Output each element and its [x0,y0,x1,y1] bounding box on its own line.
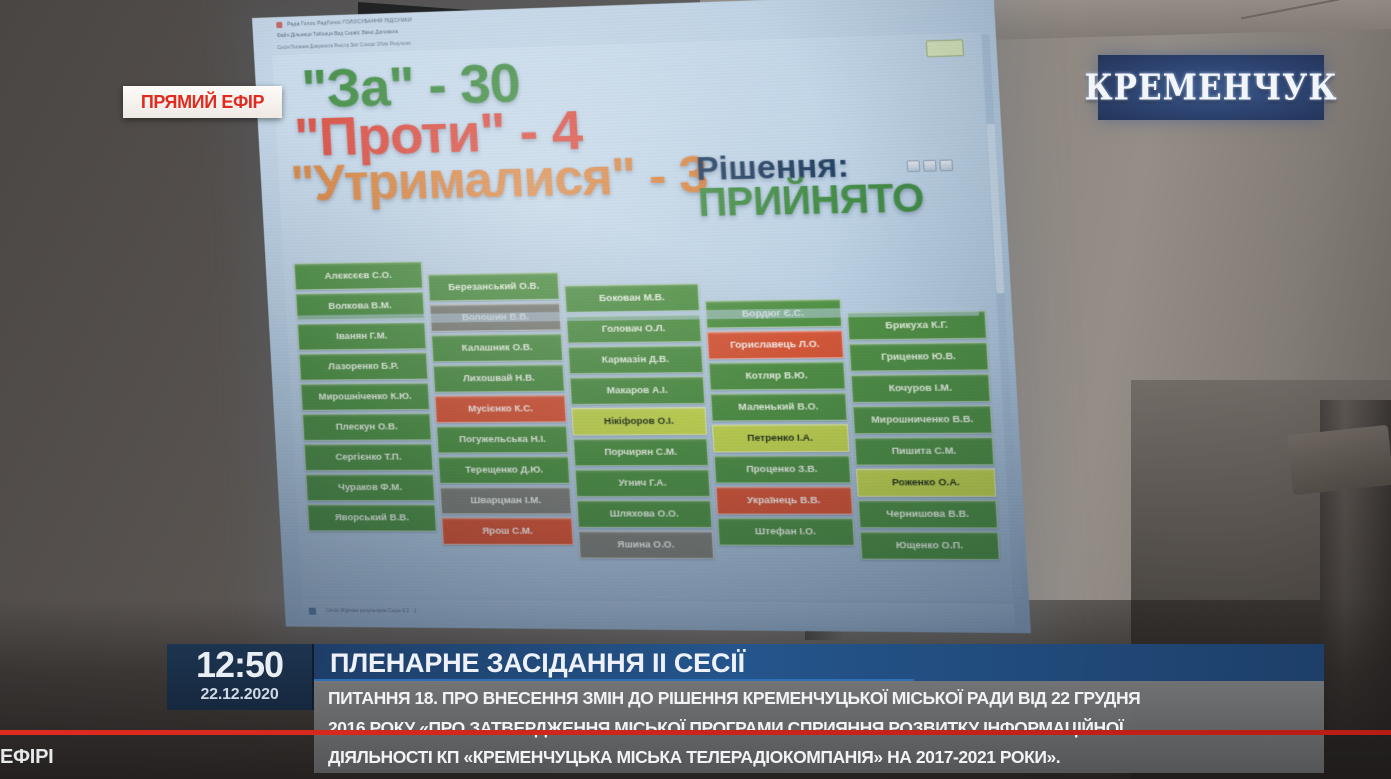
clock-time: 12:50 [196,647,283,683]
vote-cell: Мирошніченко К.Ю. [300,383,430,411]
vote-cell: Проценко З.В. [713,455,851,483]
vote-cell: Штефан І.О. [717,518,855,546]
vote-cell: Угнич Г.А. [575,469,710,497]
vote-column-3: Бокован М.В.Головач О.Л.Кармазін Д.В.Мак… [565,283,714,559]
subtitle-box: ПИТАННЯ 18. ПРО ВНЕСЕННЯ ЗМІН ДО РІШЕННЯ… [314,681,1324,773]
vote-cell: Бокован М.В. [565,283,700,313]
vote-cell: Шварцман І.М. [440,487,573,515]
clock-box: 12:50 22.12.2020 [167,644,314,710]
vote-cell: Лихошвай Н.В. [433,364,566,393]
vote-cell: Гриценко Ю.В. [848,342,989,372]
headline-bar: ПЛЕНАРНЕ ЗАСІДАННЯ II СЕСІЇ [314,644,1324,682]
vote-cell: Українець В.В. [715,486,853,514]
channel-logo-label: КРЕМЕНЧУК [1084,67,1337,108]
vote-cell: Сергієнко Т.П. [304,443,434,471]
vote-cell: Лазоренко Б.Р. [299,352,429,380]
vote-cell: Гориславець Л.О. [706,330,844,360]
vote-column-5: Брикуха К.Г.Гриценко Ю.В.Кочуров І.М.Мир… [847,310,1000,560]
ticker-crawl: ЕФІРІ [0,741,170,773]
decision-block: Рішення: ПРИЙНЯТО [695,147,969,224]
vote-cell: Плескун О.В. [302,413,432,441]
vote-cell: Петренко І.А. [711,424,849,453]
vote-cell: Березанський О.В. [428,272,560,301]
vote-cell: Погужельська Н.І. [436,425,569,453]
vote-cell: Іванян Г.М. [297,322,427,351]
decision-value: ПРИЙНЯТО [697,180,969,224]
ticker-rule [0,730,1391,735]
vote-cell: Яворський В.В. [307,504,437,531]
status-chip-icon [309,607,316,614]
vote-cell: Маленький В.О. [710,393,848,422]
vote-cell: Кочуров І.М. [850,374,991,403]
app-icon [276,21,282,27]
vote-cell: Порчирян С.М. [573,438,708,466]
ticker-crawl-text: ЕФІРІ [0,746,53,769]
vote-tally-block: "За" - 30 "Проти" - 4 "Утрималися" - 3 [284,49,736,209]
vote-cell: Ющенко О.П. [859,531,1000,560]
vote-cell: Роженко О.А. [856,468,997,497]
clock-date: 22.12.2020 [200,683,278,707]
live-badge-label: ПРЯМИЙ ЕФІР [141,92,264,113]
projection-screen-surface: Рада Голос РадГолос ГОЛОСУВАННЯ ПІДСУМКИ… [252,0,1031,633]
headline-text: ПЛЕНАРНЕ ЗАСІДАННЯ II СЕСІЇ [330,648,745,679]
voting-results-grid: Алєксєєв С.О.Волкова В.М.Іванян Г.М.Лазо… [294,251,1002,578]
vote-cell: Чернишова В.В. [858,500,999,528]
app-menu-items[interactable]: Файл Дільниця Таблиця Вид Сервіс Вікно Д… [277,29,398,39]
live-badge: ПРЯМИЙ ЕФІР [123,86,282,118]
vote-cell: Терещенко Д.Ю. [438,456,571,484]
vote-cell: Кармазін Д.В. [568,345,703,374]
app-legend-chip [926,39,964,57]
lower-third-banner: 12:50 22.12.2020 ПЛЕНАРНЕ ЗАСІДАННЯ II С… [0,624,1391,779]
app-toolbar-items[interactable]: Сесія Питання Документи Реєстр Звіт Спис… [277,41,411,50]
vote-cell: Макаров А.І. [570,376,705,405]
vote-cell: Мусієнко К.С. [435,395,568,423]
vote-cell: Мирошниченко В.В. [852,405,993,434]
vote-cell: Ярош С.М. [441,517,574,545]
vote-cell: Шляхова О.О. [577,500,712,528]
vote-column-4: Бордюг Є.С.Гориславець Л.О.Котляр В.Ю.Ма… [704,299,854,546]
vote-cell: Котляр В.Ю. [708,361,846,390]
app-title-text: Рада Голос РадГолос ГОЛОСУВАННЯ ПІДСУМКИ [287,17,412,27]
vote-column-1: Алєксєєв С.О.Волкова В.М.Іванян Г.М.Лазо… [294,261,438,531]
subtitle-line-3: ДІЯЛЬНОСТІ КП «КРЕМЕНЧУЦЬКА МІСЬКА ТЕЛЕР… [328,743,1314,771]
vote-cell: Нікіфоров О.І. [572,407,707,436]
app-status-text: Сесія Журнал результатів Сесія II 2 - 1 [326,608,417,615]
vote-cell: Алєксєєв С.О. [294,261,424,290]
subtitle-line-1: ПИТАННЯ 18. ПРО ВНЕСЕННЯ ЗМІН ДО РІШЕННЯ… [328,684,1314,712]
vote-cell: Пишита С.М. [854,437,995,466]
vote-cell: Чураков Ф.М. [305,474,435,501]
channel-logo: КРЕМЕНЧУК [1098,55,1324,120]
vote-cell: Яшина О.О. [579,531,714,559]
vote-cell: Калашник О.В. [431,333,563,362]
votes-abstain-label: "Утрималися" - 3 [290,148,736,209]
projection-screen: Рада Голос РадГолос ГОЛОСУВАННЯ ПІДСУМКИ… [252,0,1031,633]
subtitle-line-2: 2016 РОКУ «ПРО ЗАТВЕРДЖЕННЯ МІСЬКОЇ ПРОГ… [328,714,1314,742]
